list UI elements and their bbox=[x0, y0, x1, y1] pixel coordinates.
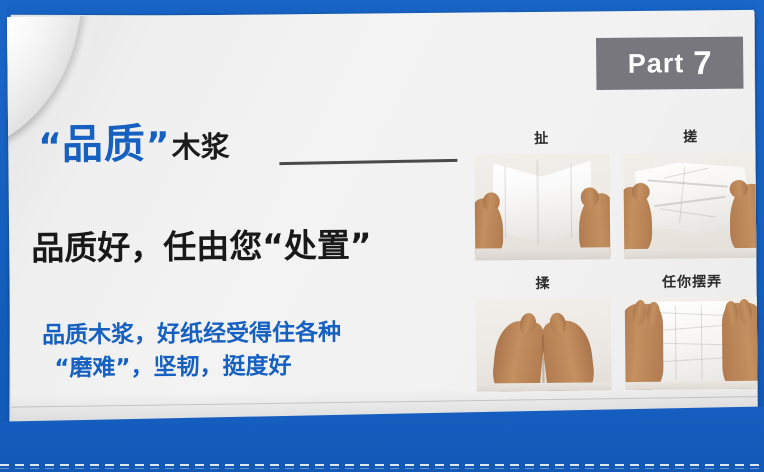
photo-row-2: 揉 任你摆弄 bbox=[476, 275, 758, 392]
table-surface bbox=[624, 248, 758, 259]
dashed-rule-secondary bbox=[0, 468, 764, 469]
body-line-1: 品质木浆，好纸经受得住各种 bbox=[42, 320, 341, 349]
title-close-quote: ” bbox=[146, 128, 170, 164]
part-badge-number: 7 bbox=[693, 44, 712, 82]
photo-grid: 扯 搓 bbox=[474, 130, 758, 392]
photo-knead-tissue bbox=[476, 298, 612, 391]
photo-label-flatten: 任你摆弄 bbox=[625, 275, 758, 298]
photo-row-1: 扯 搓 bbox=[474, 130, 758, 261]
photo-pull-tissue bbox=[474, 153, 610, 260]
photo-cell-knead: 揉 bbox=[476, 276, 612, 391]
title-divider-rule bbox=[279, 159, 457, 165]
left-thumb bbox=[632, 183, 650, 201]
photo-rub-tissue bbox=[623, 152, 758, 259]
part-badge-label: Part bbox=[628, 48, 685, 80]
photo-label-knead: 揉 bbox=[476, 276, 611, 299]
slide-stage: “ 品质 ” 木浆 品质好，任由您“处置” 品质木浆，好纸经受得住各种 “磨难”… bbox=[0, 0, 764, 472]
left-blue-edge bbox=[0, 0, 7, 472]
table-surface bbox=[475, 247, 610, 260]
dashed-rule bbox=[0, 464, 764, 466]
left-thumb bbox=[483, 192, 500, 211]
title-open-quote: “ bbox=[38, 129, 62, 165]
subtitle-text: 品质好，任由您“处置” bbox=[31, 219, 372, 270]
right-thumb bbox=[581, 187, 599, 207]
title-highlight: 品质 bbox=[62, 124, 146, 166]
text-column: “ 品质 ” 木浆 品质好，任由您“处置” 品质木浆，好纸经受得住各种 “磨难”… bbox=[7, 12, 481, 427]
body-line-2: “磨难”，坚韧，挺度好 bbox=[42, 349, 341, 385]
page-title: “ 品质 ” 木浆 bbox=[38, 123, 230, 166]
right-thumb bbox=[730, 180, 748, 198]
title-suffix: 木浆 bbox=[171, 133, 229, 163]
part-badge: Part 7 bbox=[596, 37, 743, 90]
photo-cell-flatten: 任你摆弄 bbox=[625, 275, 758, 390]
photo-label-rub: 搓 bbox=[623, 130, 758, 153]
photo-cell-rub: 搓 bbox=[623, 130, 758, 259]
photo-flatten-tissue bbox=[625, 297, 758, 390]
photo-label-pull: 扯 bbox=[474, 131, 609, 154]
body-copy: 品质木浆，好纸经受得住各种 “磨难”，坚韧，挺度好 bbox=[42, 317, 342, 385]
photo-cell-pull: 扯 bbox=[474, 131, 610, 260]
